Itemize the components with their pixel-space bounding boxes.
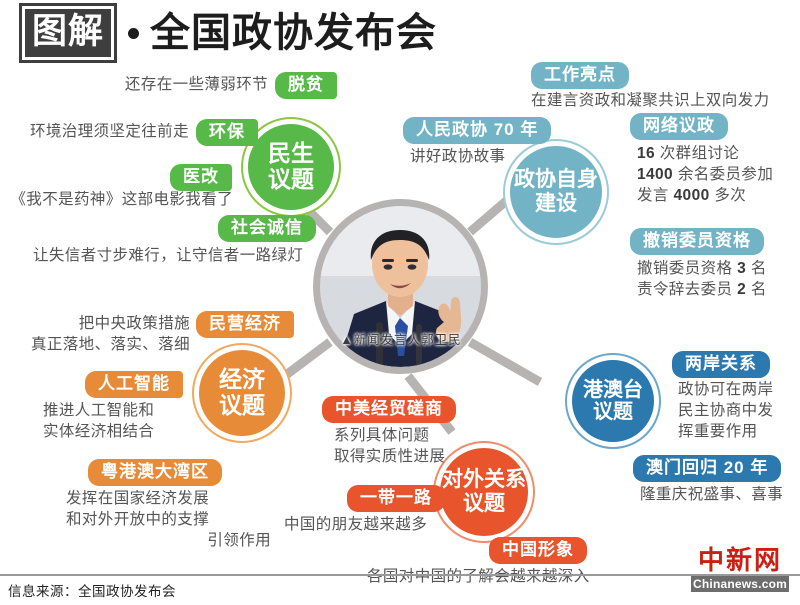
source-note: 信息来源：全国政协发布会 bbox=[8, 580, 176, 600]
photo-caption: ▲新闻发言人郭卫民 bbox=[305, 329, 497, 348]
value-cizhi-count: 2 bbox=[737, 281, 746, 298]
value-weiyuan-count: 1400 bbox=[637, 166, 673, 183]
tag-gongzuo-liangdian[interactable]: 工作亮点 bbox=[531, 62, 629, 89]
infographic-canvas: 图解 全国政协发布会 bbox=[0, 0, 800, 605]
tag-huanbao[interactable]: 环保 bbox=[196, 119, 258, 146]
tag-liangan-guanxi[interactable]: 两岸关系 bbox=[672, 351, 770, 378]
tag-tuopin[interactable]: 脱贫 bbox=[275, 72, 337, 99]
label-weiyuan: 余名委员参加 bbox=[678, 166, 773, 183]
note-minying-jingji-2: 真正落地、落实、落细 bbox=[0, 334, 190, 356]
note-rengong-zhineng-2: 实体经济相结合 bbox=[43, 421, 154, 443]
note-liangan-3: 挥重要作用 bbox=[678, 421, 758, 443]
tag-shehui-chengxin[interactable]: 社会诚信 bbox=[218, 215, 316, 242]
footer-divider bbox=[0, 574, 800, 576]
topic-label-line2: 建设 bbox=[535, 192, 577, 216]
note-yigai: 《我不是药神》这部电影我看了 bbox=[0, 189, 233, 211]
topic-label-line2: 议题 bbox=[463, 492, 505, 516]
note-chexiao-1: 撤销委员资格 3 名 bbox=[637, 258, 767, 280]
unit-cizhi: 名 bbox=[751, 281, 767, 298]
topic-label-line1: 港澳台 bbox=[583, 379, 643, 401]
note-rengong-zhineng-1: 推进人工智能和 bbox=[43, 400, 154, 422]
note-yuegangao-2: 和对外开放中的支撑 bbox=[66, 509, 209, 531]
tag-zhongmei-jingmao[interactable]: 中美经贸磋商 bbox=[322, 396, 456, 423]
tag-rengong-zhineng[interactable]: 人工智能 bbox=[85, 371, 183, 398]
unit-chexiao: 名 bbox=[751, 260, 767, 277]
topic-label-line2: 议题 bbox=[268, 167, 314, 193]
value-qunzu-count: 16 bbox=[637, 145, 655, 162]
topic-label-line2: 议题 bbox=[219, 393, 265, 419]
topic-circle-jingji[interactable]: 经济 议题 bbox=[194, 345, 290, 441]
note-wangluo-yizheng-2: 1400 余名委员参加 bbox=[637, 164, 773, 186]
topic-label-line2: 议题 bbox=[593, 401, 633, 423]
chinanews-logo: 中新网 Chinanews.com bbox=[688, 548, 792, 593]
label-qunzu: 次群组讨论 bbox=[660, 145, 740, 162]
tag-yigai[interactable]: 医改 bbox=[170, 164, 232, 191]
note-zhongmei-2: 取得实质性进展 bbox=[334, 446, 445, 468]
label-fayan-suffix: 多次 bbox=[714, 187, 746, 204]
topic-label-line1: 民生 bbox=[268, 141, 314, 167]
topic-label-line1: 对外关系 bbox=[442, 468, 526, 492]
tag-minying-jingji[interactable]: 民营经济 bbox=[196, 311, 294, 338]
tag-zhongguo-xingxiang[interactable]: 中国形象 bbox=[489, 537, 587, 564]
tag-wangluo-yizheng[interactable]: 网络议政 bbox=[630, 113, 728, 140]
note-yidai-yilu: 中国的朋友越来越多 bbox=[284, 514, 427, 536]
topic-circle-duiwai-guanxi[interactable]: 对外关系 议题 bbox=[435, 443, 533, 541]
topic-circle-zhengxie-jianshe[interactable]: 政协自身 建设 bbox=[505, 141, 607, 243]
logo-cn-text: 中新网 bbox=[688, 548, 792, 574]
tag-chexiao-weiyuan-zige[interactable]: 撤销委员资格 bbox=[630, 228, 764, 255]
note-tuopin: 还存在一些薄弱环节 bbox=[0, 74, 268, 96]
label-fayan: 发言 bbox=[637, 187, 669, 204]
note-liangan-2: 民主协商中发 bbox=[678, 400, 773, 422]
note-wangluo-yizheng-1: 16 次群组讨论 bbox=[637, 143, 739, 165]
note-huanbao: 环境治理须坚定往前走 bbox=[0, 121, 189, 143]
note-gongzuo-liangdian: 在建言资政和凝聚共识上双向发力 bbox=[531, 90, 770, 112]
label-cizhi: 责令辞去委员 bbox=[637, 281, 732, 298]
note-yuegangao-3: 引领作用 bbox=[66, 530, 271, 552]
note-chexiao-2: 责令辞去委员 2 名 bbox=[637, 279, 767, 301]
tag-yuegangao-dawanqu[interactable]: 粤港澳大湾区 bbox=[88, 459, 222, 486]
value-chexiao-count: 3 bbox=[737, 260, 746, 277]
topic-label-line1: 政协自身 bbox=[514, 168, 598, 192]
logo-en-text: Chinanews.com bbox=[691, 576, 789, 592]
note-shehui-chengxin: 让失信者寸步难行，让守信者一路绿灯 bbox=[33, 245, 303, 267]
label-chexiao: 撤销委员资格 bbox=[637, 260, 732, 277]
tag-aomen-huigui-20[interactable]: 澳门回归 20 年 bbox=[633, 455, 781, 482]
value-fayan-count: 4000 bbox=[674, 187, 710, 204]
note-liangan-1: 政协可在两岸 bbox=[678, 379, 773, 401]
center-photo-hub: ▲新闻发言人郭卫民 bbox=[313, 199, 488, 374]
note-aomen-huigui: 隆重庆祝盛事、喜事 bbox=[640, 484, 783, 506]
note-zhongmei-1: 系列具体问题 bbox=[334, 425, 429, 447]
tag-renmin-zhengxie-70[interactable]: 人民政协 70 年 bbox=[403, 117, 551, 144]
tag-yidai-yilu[interactable]: 一带一路 bbox=[347, 485, 445, 512]
topic-label-line1: 经济 bbox=[219, 367, 265, 393]
note-minying-jingji-1: 把中央政策措施 bbox=[0, 313, 190, 335]
note-yuegangao-1: 发挥在国家经济发展 bbox=[66, 488, 209, 510]
note-renmin-zhengxie-70: 讲好政协故事 bbox=[410, 146, 505, 168]
note-wangluo-yizheng-3: 发言 4000 多次 bbox=[637, 185, 746, 207]
topic-circle-gangaotai[interactable]: 港澳台 议题 bbox=[567, 355, 659, 447]
note-zhongguo-xingxiang: 各国对中国的了解会越来越深入 bbox=[367, 566, 590, 588]
